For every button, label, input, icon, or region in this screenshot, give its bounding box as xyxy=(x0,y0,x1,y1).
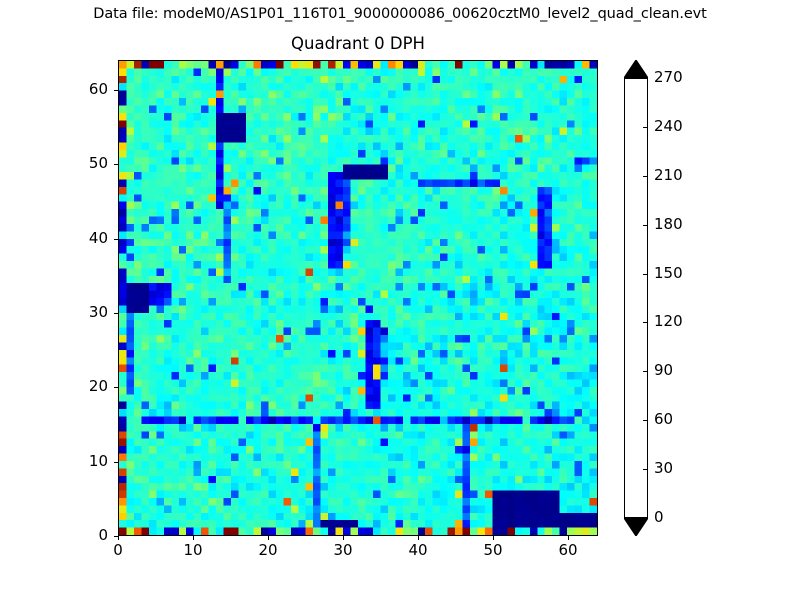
y-tick-label: 50 xyxy=(56,155,108,172)
y-tick-label: 30 xyxy=(56,304,108,321)
colorbar-tick-label: 120 xyxy=(654,313,714,330)
colorbar-tick-mark xyxy=(643,469,647,470)
x-tick-mark xyxy=(568,536,569,540)
colorbar-tick-mark xyxy=(643,274,647,275)
y-tick-mark xyxy=(114,164,118,165)
colorbar-tick-label: 240 xyxy=(654,118,714,135)
colorbar[interactable] xyxy=(624,60,648,536)
y-tick-label: 40 xyxy=(56,230,108,247)
colorbar-extend-top-arrow-icon xyxy=(624,60,648,78)
heatmap-axes[interactable] xyxy=(118,60,598,536)
x-tick-mark xyxy=(268,536,269,540)
x-tick-label: 10 xyxy=(163,542,223,559)
detector-heatmap-image xyxy=(119,61,597,535)
x-tick-mark xyxy=(493,536,494,540)
x-tick-label: 0 xyxy=(88,542,148,559)
x-tick-mark xyxy=(118,536,119,540)
y-tick-label: 10 xyxy=(56,453,108,470)
colorbar-tick-label: 0 xyxy=(654,509,714,526)
colorbar-tick-mark xyxy=(643,225,647,226)
x-tick-label: 40 xyxy=(388,542,448,559)
x-tick-label: 30 xyxy=(313,542,373,559)
colorbar-tick-mark xyxy=(643,127,647,128)
y-tick-label: 20 xyxy=(56,378,108,395)
figure-suptitle: Data file: modeM0/AS1P01_116T01_90000000… xyxy=(0,5,800,24)
colorbar-tick-mark xyxy=(643,420,647,421)
colorbar-tick-label: 60 xyxy=(654,411,714,428)
colorbar-tick-mark xyxy=(643,518,647,519)
matplotlib-figure: Data file: modeM0/AS1P01_116T01_90000000… xyxy=(0,0,800,600)
colorbar-tick-mark xyxy=(643,78,647,79)
axes-title: Quadrant 0 DPH xyxy=(118,33,598,54)
y-tick-label: 60 xyxy=(56,81,108,98)
y-tick-mark xyxy=(114,90,118,91)
colorbar-tick-mark xyxy=(643,322,647,323)
y-tick-mark xyxy=(114,239,118,240)
x-tick-label: 50 xyxy=(463,542,523,559)
colorbar-tick-mark xyxy=(643,176,647,177)
colorbar-tick-label: 150 xyxy=(654,265,714,282)
x-tick-mark xyxy=(418,536,419,540)
colorbar-extend-bottom-arrow-icon xyxy=(624,518,648,536)
colorbar-tick-label: 270 xyxy=(654,69,714,86)
colorbar-gradient xyxy=(624,78,648,518)
y-tick-mark xyxy=(114,536,118,537)
x-tick-label: 60 xyxy=(538,542,598,559)
colorbar-tick-mark xyxy=(643,371,647,372)
y-tick-mark xyxy=(114,313,118,314)
x-tick-mark xyxy=(343,536,344,540)
y-tick-mark xyxy=(114,462,118,463)
y-tick-label: 0 xyxy=(56,527,108,544)
colorbar-tick-label: 90 xyxy=(654,362,714,379)
colorbar-tick-label: 210 xyxy=(654,167,714,184)
x-tick-mark xyxy=(193,536,194,540)
colorbar-tick-label: 180 xyxy=(654,216,714,233)
colorbar-tick-label: 30 xyxy=(654,460,714,477)
y-tick-mark xyxy=(114,387,118,388)
x-tick-label: 20 xyxy=(238,542,298,559)
